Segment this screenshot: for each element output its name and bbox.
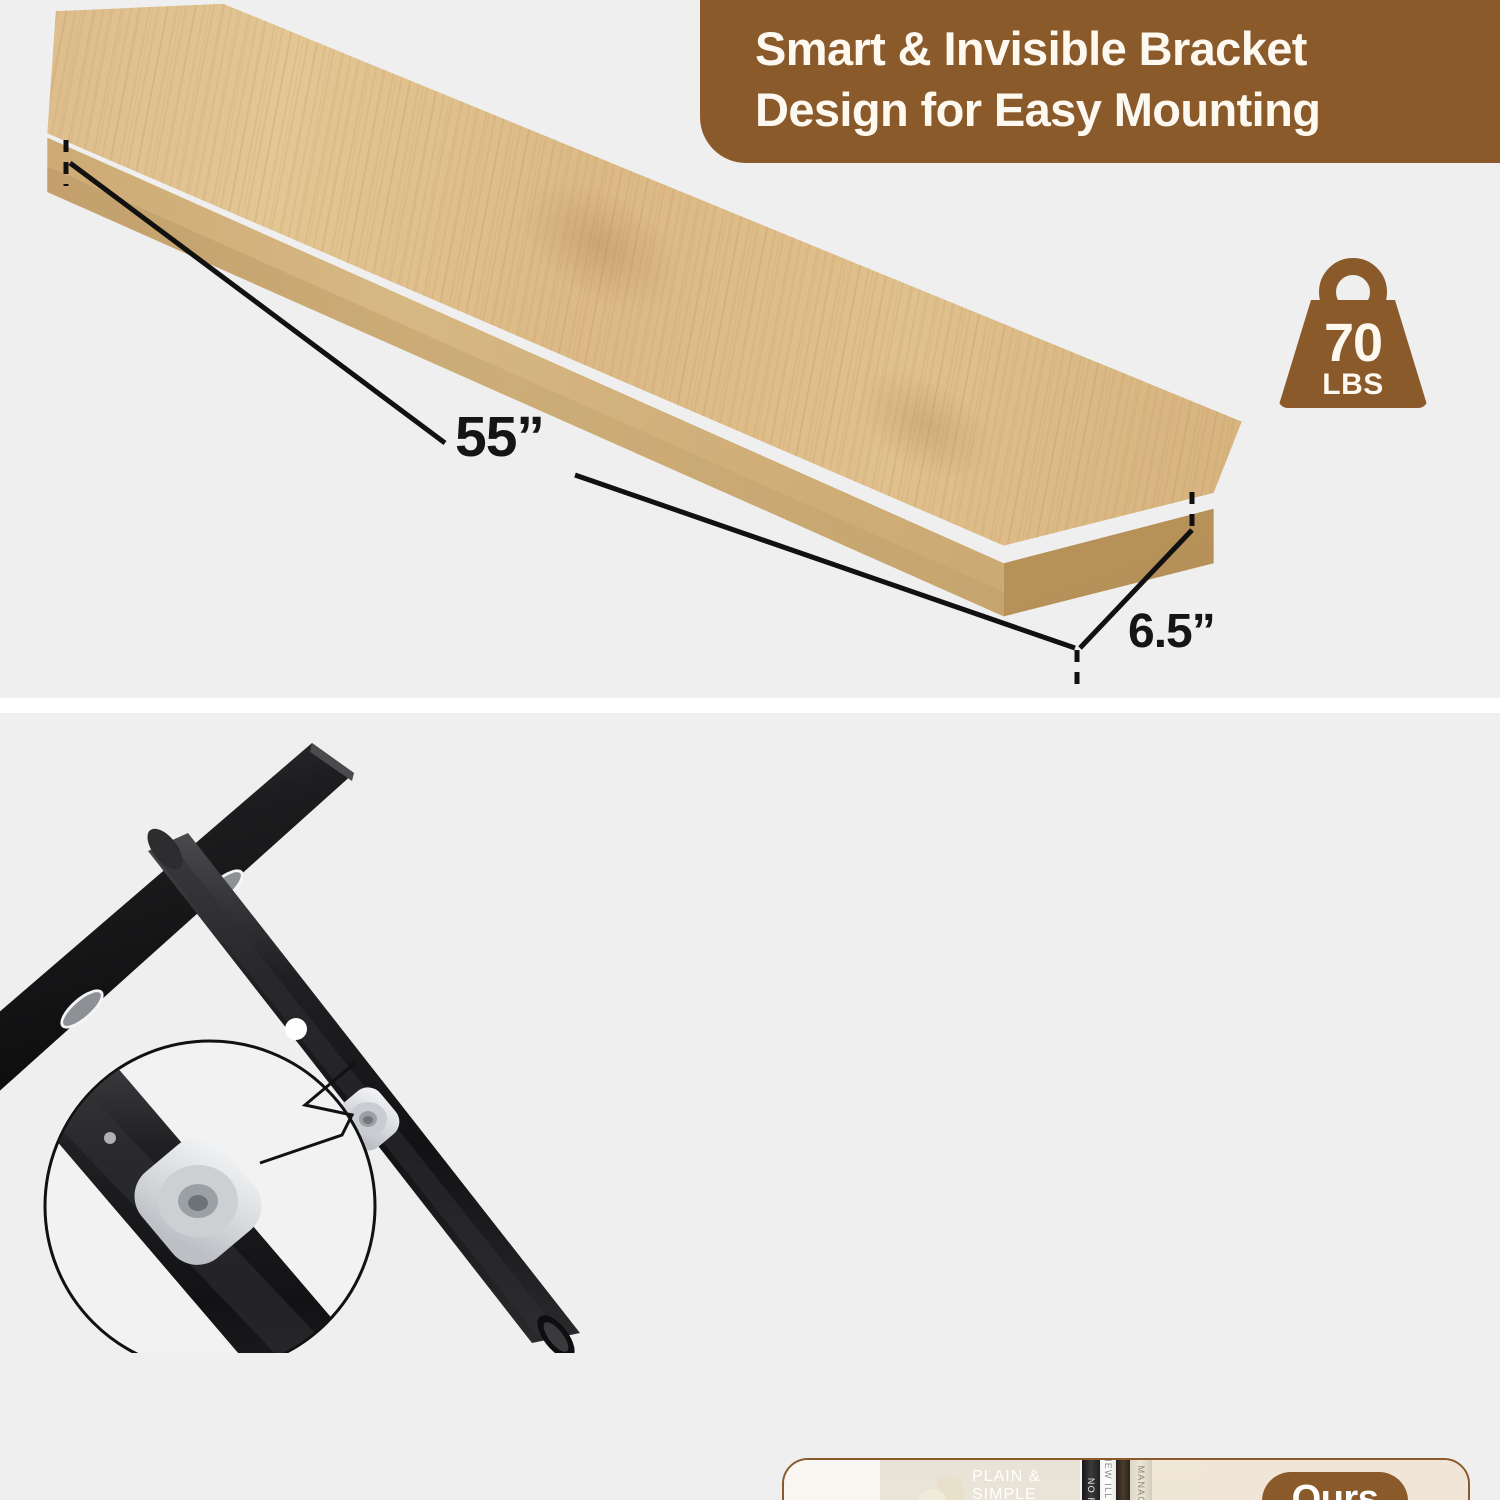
weight-capacity-badge: 70 LBS	[1278, 258, 1428, 408]
depth-dimension-label: 6.5”	[1128, 604, 1215, 659]
section-divider	[0, 698, 1500, 713]
ours-book-title-line1: PLAIN &	[972, 1468, 1040, 1486]
ours-product-photo: PLAIN & SIMPLE KIM BRENNEMAN NO REST FOR…	[784, 1460, 1202, 1500]
mounting-bracket-illustration	[0, 733, 660, 1353]
weight-unit: LBS	[1278, 370, 1428, 400]
ours-book-title: PLAIN & SIMPLE	[972, 1468, 1040, 1500]
comparison-card-ours: PLAIN & SIMPLE KIM BRENNEMAN NO REST FOR…	[782, 1458, 1470, 1500]
ours-spine-1: NO REST FOR THE WEARY	[1082, 1460, 1100, 1500]
ours-featured-book: PLAIN & SIMPLE KIM BRENNEMAN	[880, 1460, 1080, 1500]
top-section: 55” 6.5” 70 LBS Smart & Invisible Bracke…	[0, 0, 1500, 698]
header-banner: Smart & Invisible Bracket Design for Eas…	[700, 0, 1500, 163]
banner-title-line1: Smart & Invisible Bracket	[755, 18, 1462, 79]
ours-spine-4: MANAGEMENT PLAIN & SIMPLE	[1130, 1460, 1152, 1500]
ours-book-title-line2: SIMPLE	[972, 1486, 1040, 1500]
iron-callout-leader	[0, 1426, 760, 1500]
ours-spine-3: GREAT CASES	[1116, 1460, 1130, 1500]
ours-info-panel: Ours DEEPER & THICKER Create more storag…	[1202, 1460, 1468, 1500]
ours-spine-2: NEW ILLUSTRATED HOME LIBRARY	[1100, 1460, 1116, 1500]
bottom-section: Made of Military Grade Iron Unique Rubbe…	[0, 713, 1500, 1500]
banner-title-line2: Design for Easy Mounting	[755, 79, 1462, 140]
length-dimension-label: 55”	[455, 404, 544, 470]
ours-badge: Ours	[1262, 1472, 1409, 1500]
weight-value: 70	[1278, 316, 1428, 370]
infographic-stage: 55” 6.5” 70 LBS Smart & Invisible Bracke…	[0, 0, 1500, 1500]
